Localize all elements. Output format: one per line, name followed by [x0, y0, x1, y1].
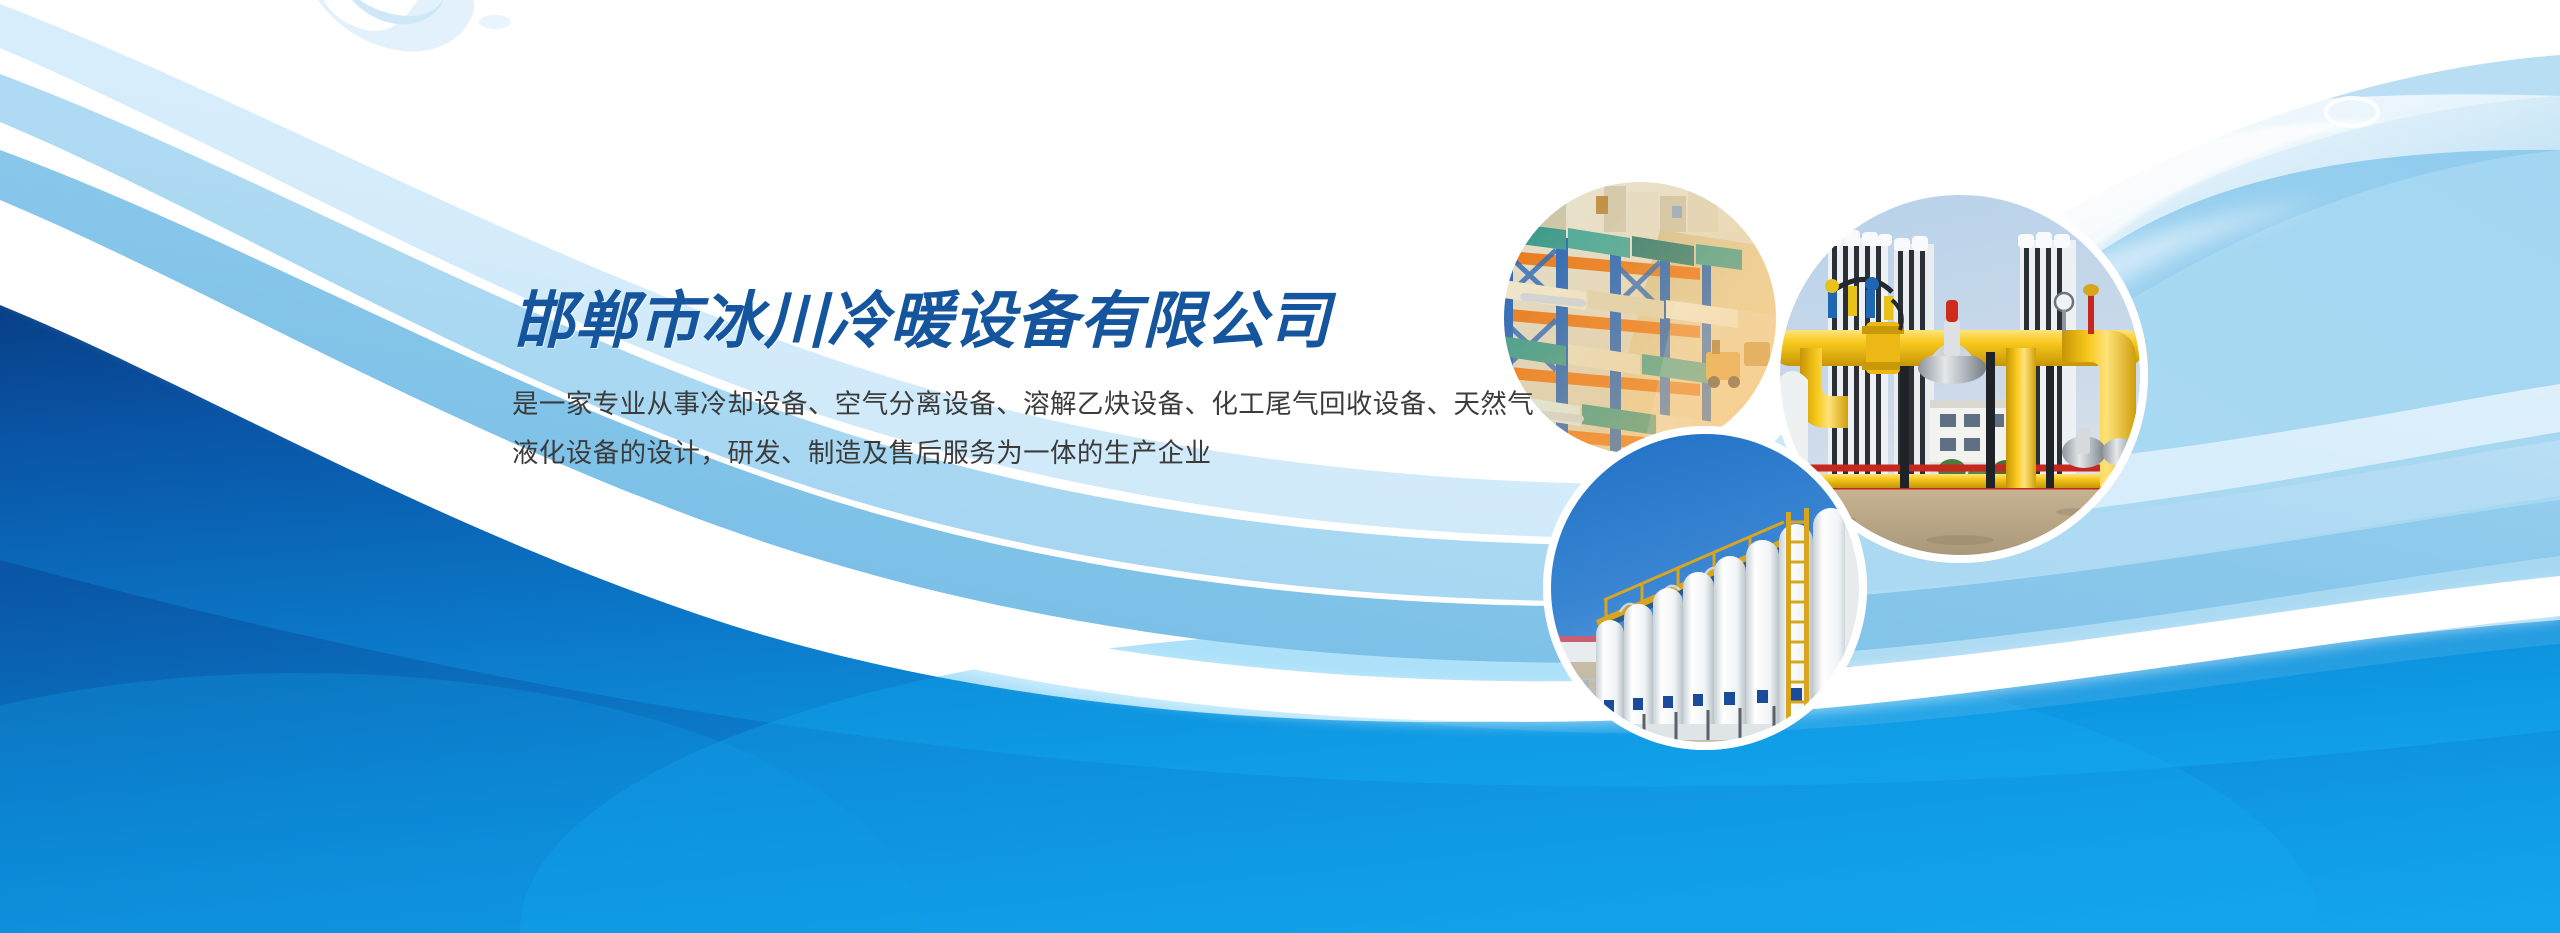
company-banner: 邯郸市冰川冷暖设备有限公司 是一家专业从事冷却设备、空气分离设备、溶解乙炔设备、…: [0, 0, 2560, 933]
company-description: 是一家专业从事冷却设备、空气分离设备、溶解乙炔设备、化工尾气回收设备、天然气 液…: [512, 356, 1497, 478]
banner-text-block: 邯郸市冰川冷暖设备有限公司 是一家专业从事冷却设备、空气分离设备、溶解乙炔设备、…: [512, 290, 1512, 478]
company-name-headline: 邯郸市冰川冷暖设备有限公司: [512, 290, 1512, 356]
swirl-dot: [479, 15, 511, 29]
company-description-line-2: 液化设备的设计，研发、制造及售后服务为一体的生产企业: [512, 429, 1497, 478]
company-description-line-1: 是一家专业从事冷却设备、空气分离设备、溶解乙炔设备、化工尾气回收设备、天然气: [512, 380, 1497, 429]
